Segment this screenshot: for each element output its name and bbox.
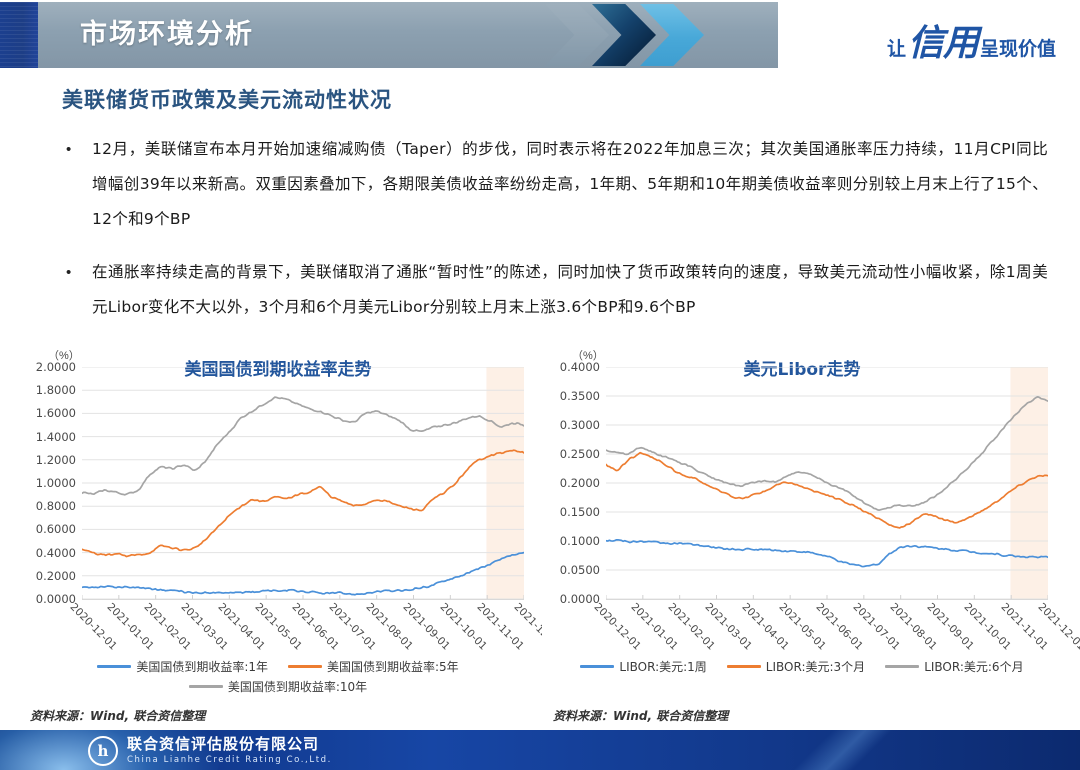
legend-color-swatch: [727, 665, 761, 668]
footer-streak-decoration: [703, 730, 977, 770]
chart-treasury-yield: （%） 美国国债到期收益率走势 2.00001.80001.60001.4000…: [18, 345, 538, 665]
legend-item[interactable]: LIBOR:美元:6个月: [885, 658, 1023, 675]
legend-label: 美国国债到期收益率:5年: [327, 658, 459, 675]
y-tick-label: 0.4000: [560, 360, 600, 374]
plot-area-wrapper: 0.40000.35000.30000.25000.20000.15000.10…: [542, 367, 1062, 599]
y-tick-label: 1.4000: [36, 430, 76, 444]
footer-logo: h 联合资信评估股份有限公司 China Lianhe Credit Ratin…: [88, 736, 332, 766]
y-tick-label: 0.2000: [560, 476, 600, 490]
legend-color-swatch: [97, 665, 131, 668]
y-tick-label: 0.2500: [560, 447, 600, 461]
bullet-marker: •: [58, 132, 92, 237]
legend-label: 美国国债到期收益率:1年: [136, 658, 268, 675]
brand-prefix: 让: [887, 34, 906, 61]
y-tick-label: 1.2000: [36, 453, 76, 467]
section-title: 美联储货币政策及美元流动性状况: [62, 84, 392, 114]
bullet-marker: •: [58, 255, 92, 325]
source-note-right: 资料来源：Wind, 联合资信整理: [553, 707, 728, 724]
legend-label: LIBOR:美元:6个月: [924, 658, 1023, 675]
y-axis-tick-labels: 0.40000.35000.30000.25000.20000.15000.10…: [542, 367, 604, 599]
line-chart-svg: [82, 367, 524, 599]
lianhe-mark-icon: h: [88, 736, 118, 766]
page-title: 市场环境分析: [80, 12, 254, 51]
y-tick-label: 0.0000: [36, 592, 76, 606]
brand-main: 信用: [908, 14, 978, 66]
line-chart-svg: [606, 367, 1048, 599]
y-tick-label: 1.0000: [36, 476, 76, 490]
source-note-left: 资料来源：Wind, 联合资信整理: [30, 707, 205, 724]
header-navy-block: [0, 2, 38, 68]
legend-item[interactable]: 美国国债到期收益率:10年: [189, 678, 367, 695]
y-tick-label: 0.3000: [560, 418, 600, 432]
page-header: 市场环境分析 让 信用 呈现价值: [0, 0, 1080, 70]
y-tick-label: 0.4000: [36, 546, 76, 560]
legend-item[interactable]: LIBOR:美元:3个月: [727, 658, 865, 675]
legend-item[interactable]: 美国国债到期收益率:5年: [288, 658, 459, 675]
legend-label: LIBOR:美元:1周: [619, 658, 706, 675]
legend-item[interactable]: 美国国债到期收益率:1年: [97, 658, 268, 675]
chart-legend: LIBOR:美元:1周LIBOR:美元:3个月LIBOR:美元:6个月: [542, 658, 1062, 678]
y-tick-label: 1.6000: [36, 406, 76, 420]
bullet-text: 12月，美联储宣布本月开始加速缩减购债（Taper）的步伐，同时表示将在2022…: [92, 132, 1048, 237]
plot-area-wrapper: 2.00001.80001.60001.40001.20001.00000.80…: [18, 367, 538, 599]
y-tick-label: 0.6000: [36, 522, 76, 536]
legend-label: LIBOR:美元:3个月: [766, 658, 865, 675]
legend-label: 美国国债到期收益率:10年: [228, 678, 367, 695]
legend-color-swatch: [189, 685, 223, 688]
y-axis-tick-labels: 2.00001.80001.60001.40001.20001.00000.80…: [18, 367, 80, 599]
chart-usd-libor: （%） 美元Libor走势 0.40000.35000.30000.25000.…: [542, 345, 1062, 665]
y-tick-label: 0.2000: [36, 569, 76, 583]
company-name-en: China Lianhe Credit Rating Co.,Ltd.: [127, 754, 332, 766]
y-tick-label: 0.3500: [560, 389, 600, 403]
legend-color-swatch: [580, 665, 614, 668]
y-tick-label: 0.0000: [560, 592, 600, 606]
legend-color-swatch: [288, 665, 322, 668]
legend-color-swatch: [885, 665, 919, 668]
chevron-icon-3: [640, 4, 704, 66]
bullet-list: • 12月，美联储宣布本月开始加速缩减购债（Taper）的步伐，同时表示将在20…: [58, 132, 1048, 343]
y-tick-label: 0.8000: [36, 499, 76, 513]
legend-item[interactable]: LIBOR:美元:1周: [580, 658, 706, 675]
company-name-cn: 联合资信评估股份有限公司: [127, 737, 332, 752]
y-tick-label: 0.1500: [560, 505, 600, 519]
list-item: • 12月，美联储宣布本月开始加速缩减购债（Taper）的步伐，同时表示将在20…: [58, 132, 1048, 237]
plot-area: [82, 367, 524, 600]
y-tick-label: 2.0000: [36, 360, 76, 374]
brand-logo: 让 信用 呈现价值: [887, 14, 1056, 66]
list-item: • 在通胀率持续走高的背景下，美联储取消了通胀“暂时性”的陈述，同时加快了货币政…: [58, 255, 1048, 325]
y-tick-label: 1.8000: [36, 383, 76, 397]
page-footer: h 联合资信评估股份有限公司 China Lianhe Credit Ratin…: [0, 730, 1080, 770]
bullet-text: 在通胀率持续走高的背景下，美联储取消了通胀“暂时性”的陈述，同时加快了货币政策转…: [92, 255, 1048, 325]
y-tick-label: 0.0500: [560, 563, 600, 577]
plot-area: [606, 367, 1048, 600]
chart-legend: 美国国债到期收益率:1年美国国债到期收益率:5年美国国债到期收益率:10年: [28, 658, 528, 698]
brand-suffix: 呈现价值: [980, 34, 1056, 61]
y-tick-label: 0.1000: [560, 534, 600, 548]
